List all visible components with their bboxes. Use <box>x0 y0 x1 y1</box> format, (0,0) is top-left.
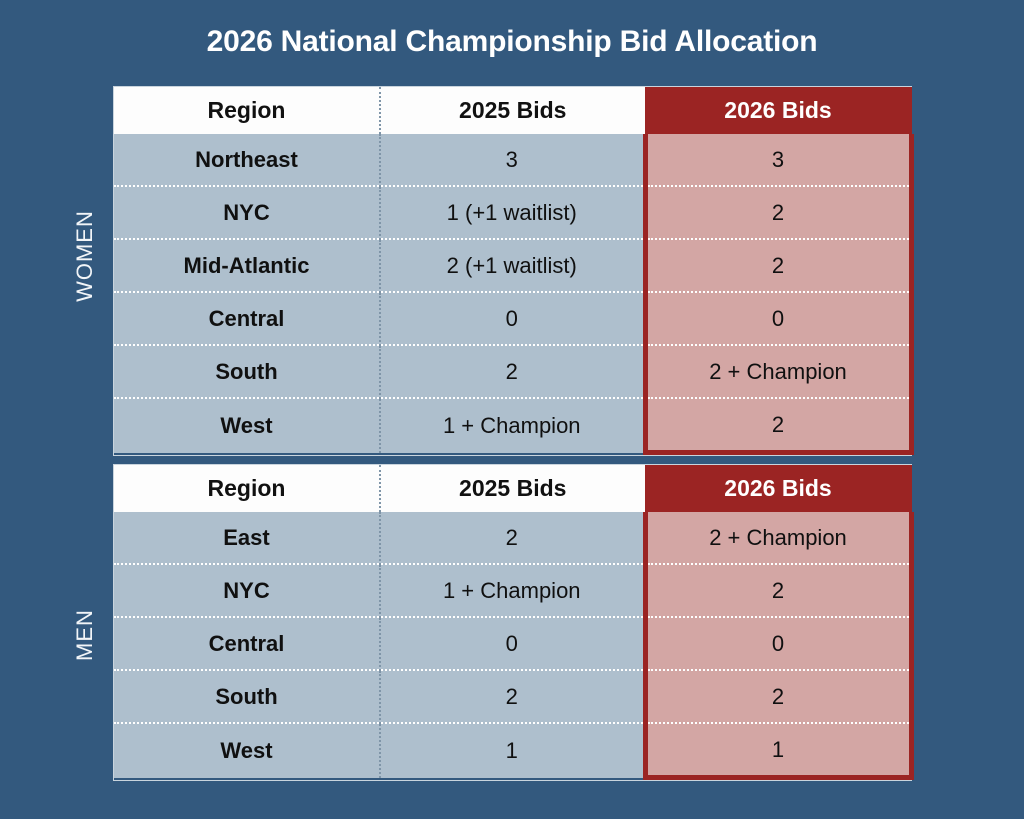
table-row: South 2 2 <box>114 670 911 723</box>
column-header-bids-2025: 2025 Bids <box>380 465 645 512</box>
table-row: Central 0 0 <box>114 292 911 345</box>
section-label-men: MEN <box>72 545 98 725</box>
women-bid-table: Region 2025 Bids 2026 Bids Northeast 3 3… <box>113 86 912 456</box>
column-header-region: Region <box>114 87 380 134</box>
cell-region: South <box>114 670 380 723</box>
cell-bids-2025: 1 + Champion <box>380 398 645 453</box>
table-row: NYC 1 + Champion 2 <box>114 564 911 617</box>
cell-region: NYC <box>114 564 380 617</box>
cell-region: NYC <box>114 186 380 239</box>
cell-bids-2026: 2 <box>645 186 911 239</box>
table-row: Northeast 3 3 <box>114 134 911 186</box>
table-row: West 1 + Champion 2 <box>114 398 911 453</box>
cell-bids-2025: 1 (+1 waitlist) <box>380 186 645 239</box>
column-header-bids-2025: 2025 Bids <box>380 87 645 134</box>
cell-region: East <box>114 512 380 564</box>
column-header-bids-2026: 2026 Bids <box>645 465 911 512</box>
cell-bids-2025: 3 <box>380 134 645 186</box>
infographic-page: 2026 National Championship Bid Allocatio… <box>0 0 1024 819</box>
cell-bids-2026: 2 <box>645 239 911 292</box>
cell-bids-2025: 2 <box>380 512 645 564</box>
cell-region: Central <box>114 292 380 345</box>
cell-bids-2026: 1 <box>645 723 911 778</box>
table-row: East 2 2 + Champion <box>114 512 911 564</box>
cell-region: Northeast <box>114 134 380 186</box>
cell-bids-2026: 2 + Champion <box>645 512 911 564</box>
table-row: Central 0 0 <box>114 617 911 670</box>
cell-bids-2025: 0 <box>380 617 645 670</box>
cell-region: Central <box>114 617 380 670</box>
table-row: West 1 1 <box>114 723 911 778</box>
cell-region: South <box>114 345 380 398</box>
page-title: 2026 National Championship Bid Allocatio… <box>0 25 1024 59</box>
section-label-women: WOMEN <box>72 166 98 346</box>
cell-bids-2025: 2 <box>380 670 645 723</box>
column-header-bids-2026: 2026 Bids <box>645 87 911 134</box>
cell-region: West <box>114 723 380 778</box>
cell-bids-2026: 3 <box>645 134 911 186</box>
cell-bids-2026: 0 <box>645 617 911 670</box>
cell-bids-2025: 1 + Champion <box>380 564 645 617</box>
cell-bids-2025: 2 (+1 waitlist) <box>380 239 645 292</box>
cell-bids-2026: 0 <box>645 292 911 345</box>
cell-region: Mid-Atlantic <box>114 239 380 292</box>
table-header-row: Region 2025 Bids 2026 Bids <box>114 87 911 134</box>
cell-bids-2026: 2 <box>645 398 911 453</box>
column-header-region: Region <box>114 465 380 512</box>
table-row: South 2 2 + Champion <box>114 345 911 398</box>
table-row: NYC 1 (+1 waitlist) 2 <box>114 186 911 239</box>
table-row: Mid-Atlantic 2 (+1 waitlist) 2 <box>114 239 911 292</box>
cell-bids-2025: 2 <box>380 345 645 398</box>
cell-bids-2026: 2 <box>645 670 911 723</box>
cell-bids-2026: 2 + Champion <box>645 345 911 398</box>
cell-region: West <box>114 398 380 453</box>
cell-bids-2026: 2 <box>645 564 911 617</box>
cell-bids-2025: 0 <box>380 292 645 345</box>
men-bid-table: Region 2025 Bids 2026 Bids East 2 2 + Ch… <box>113 464 912 781</box>
cell-bids-2025: 1 <box>380 723 645 778</box>
table-header-row: Region 2025 Bids 2026 Bids <box>114 465 911 512</box>
